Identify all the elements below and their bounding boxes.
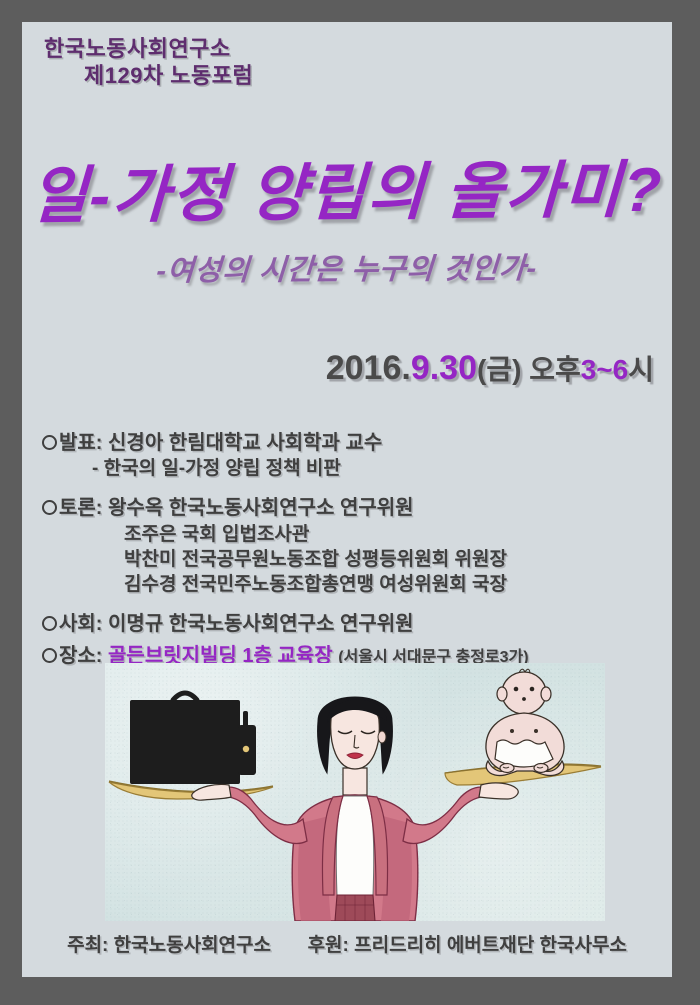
- event-day: 9.30: [411, 349, 477, 387]
- poster-header: 한국노동사회연구소 제129차 노동포럼: [22, 36, 672, 90]
- event-hour-unit: 시: [628, 354, 654, 385]
- event-datetime: 2016.9.30(금) 오후3~6시: [326, 348, 654, 388]
- discussion-line: 토론: 왕수옥 한국노동사회연구소 연구위원: [42, 495, 654, 521]
- presentation-speaker: 신경아 한림대학교 사회학과 교수: [108, 432, 382, 454]
- presentation-topic: - 한국의 일-가정 양립 정책 비판: [42, 456, 654, 481]
- detail-row-moderator: 사회: 이명규 한국노동사회연구소 연구위원: [42, 611, 654, 637]
- program-details: 발표: 신경아 한림대학교 사회학과 교수 - 한국의 일-가정 양립 정책 비…: [42, 430, 654, 676]
- detail-row-discussion: 토론: 왕수옥 한국노동사회연구소 연구위원 조주은 국회 입법조사관 박찬미 …: [42, 495, 654, 597]
- discussion-panelist-3: 박찬미 전국공무원노동조합 성평등위원회 위원장: [42, 547, 654, 572]
- moderator-line: 사회: 이명규 한국노동사회연구소 연구위원: [42, 611, 654, 637]
- event-hours: 3~6: [581, 354, 629, 385]
- work-family-balance-illustration: [105, 663, 605, 921]
- presentation-line: 발표: 신경아 한림대학교 사회학과 교수: [42, 430, 654, 456]
- title-block: 일-가정 양립의 올가미? -여성의 시간은 누구의 것인가-: [22, 142, 672, 288]
- event-weekday-time: (금) 오후: [477, 354, 581, 385]
- sponsor-label: 후원:: [308, 935, 349, 956]
- circle-bullet-icon: [42, 648, 57, 663]
- event-year: 2016.: [326, 349, 411, 387]
- moderator-name: 이명규 한국노동사회연구소 연구위원: [108, 613, 414, 635]
- moderator-label: 사회:: [59, 613, 102, 635]
- discussion-label: 토론:: [59, 497, 102, 519]
- poster-frame: 한국노동사회연구소 제129차 노동포럼 일-가정 양립의 올가미? -여성의 …: [0, 0, 700, 1005]
- discussion-panelist-2: 조주은 국회 입법조사관: [42, 522, 654, 547]
- poster-illustration: [105, 663, 605, 921]
- circle-bullet-icon: [42, 435, 57, 450]
- discussion-panelist-4: 김수경 전국민주노동조합총연맹 여성위원회 국장: [42, 572, 654, 597]
- poster-footer: 주최: 한국노동사회연구소 후원: 프리드리히 에버트재단 한국사무소: [22, 930, 672, 957]
- forum-number: 제129차 노동포럼: [22, 63, 672, 90]
- organization-name: 한국노동사회연구소: [22, 36, 672, 63]
- poster-canvas: 한국노동사회연구소 제129차 노동포럼 일-가정 양립의 올가미? -여성의 …: [22, 22, 672, 977]
- circle-bullet-icon: [42, 616, 57, 631]
- sponsor-name: 프리드리히 에버트재단 한국사무소: [354, 935, 627, 956]
- host-name: 한국노동사회연구소: [114, 935, 271, 956]
- detail-row-presentation: 발표: 신경아 한림대학교 사회학과 교수 - 한국의 일-가정 양립 정책 비…: [42, 430, 654, 481]
- venue-label: 장소:: [59, 645, 102, 667]
- baby-icon: [486, 669, 564, 775]
- circle-bullet-icon: [42, 500, 57, 515]
- briefcase-icon: [130, 693, 256, 784]
- discussion-panelist-1: 왕수옥 한국노동사회연구소 연구위원: [108, 497, 414, 519]
- host-label: 주최:: [67, 935, 108, 956]
- presentation-label: 발표:: [59, 432, 102, 454]
- page-title: 일-가정 양립의 올가미?: [22, 139, 672, 236]
- page-subtitle: -여성의 시간은 누구의 것인가-: [22, 244, 672, 291]
